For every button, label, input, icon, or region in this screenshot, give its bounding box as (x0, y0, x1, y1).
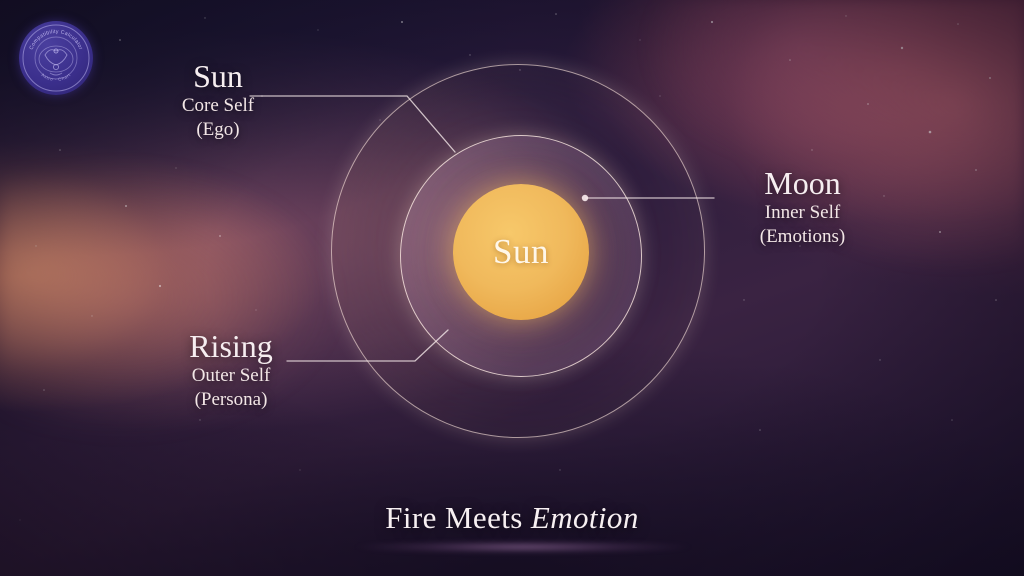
tagline: Fire Meets Emotion (0, 500, 1024, 536)
label-rising: Rising Outer Self (Persona) (136, 330, 326, 413)
label-sun-subtitle-2: (Ego) (128, 118, 308, 142)
label-moon-subtitle-1: Inner Self (700, 201, 905, 225)
tagline-emphasis: Emotion (531, 500, 639, 535)
compatibility-calculator-logo[interactable]: Compatibility Calculator Astro · Chart (19, 21, 93, 95)
logo-emblem-icon: Compatibility Calculator Astro · Chart (19, 21, 93, 95)
label-rising-title: Rising (136, 330, 326, 364)
label-moon: Moon Inner Self (Emotions) (700, 167, 905, 250)
bottom-light-streak (308, 540, 738, 554)
label-sun: Sun Core Self (Ego) (128, 60, 308, 143)
diagram-canvas: Sun Sun Core Self (Ego) Moon Inner Self … (0, 0, 1024, 576)
svg-text:Compatibility Calculator: Compatibility Calculator (29, 29, 84, 51)
sun-core-label: Sun (493, 232, 549, 272)
sun-core-circle: Sun (453, 184, 589, 320)
label-sun-subtitle-1: Core Self (128, 94, 308, 118)
tagline-plain: Fire Meets (385, 500, 531, 535)
label-rising-subtitle-1: Outer Self (136, 364, 326, 388)
label-sun-title: Sun (128, 60, 308, 94)
label-moon-title: Moon (700, 167, 905, 201)
label-rising-subtitle-2: (Persona) (136, 388, 326, 412)
svg-text:Astro · Chart: Astro · Chart (40, 72, 72, 82)
label-moon-subtitle-2: (Emotions) (700, 225, 905, 249)
